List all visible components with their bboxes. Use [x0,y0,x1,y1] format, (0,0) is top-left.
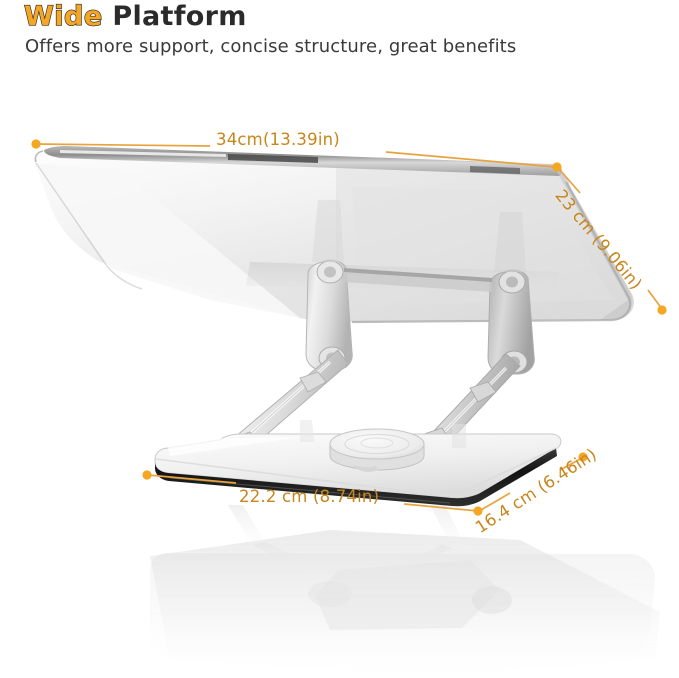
dimension-label-top-width: 34cm(13.39in) [216,130,340,149]
product-reflection [150,505,660,676]
rotating-disc [330,429,424,472]
product-illustration [0,0,679,678]
dimension-label-base-width: 22.2 cm (8.74in) [239,487,379,506]
infographic-page: Wide Platform Offers more support, conci… [0,0,679,678]
